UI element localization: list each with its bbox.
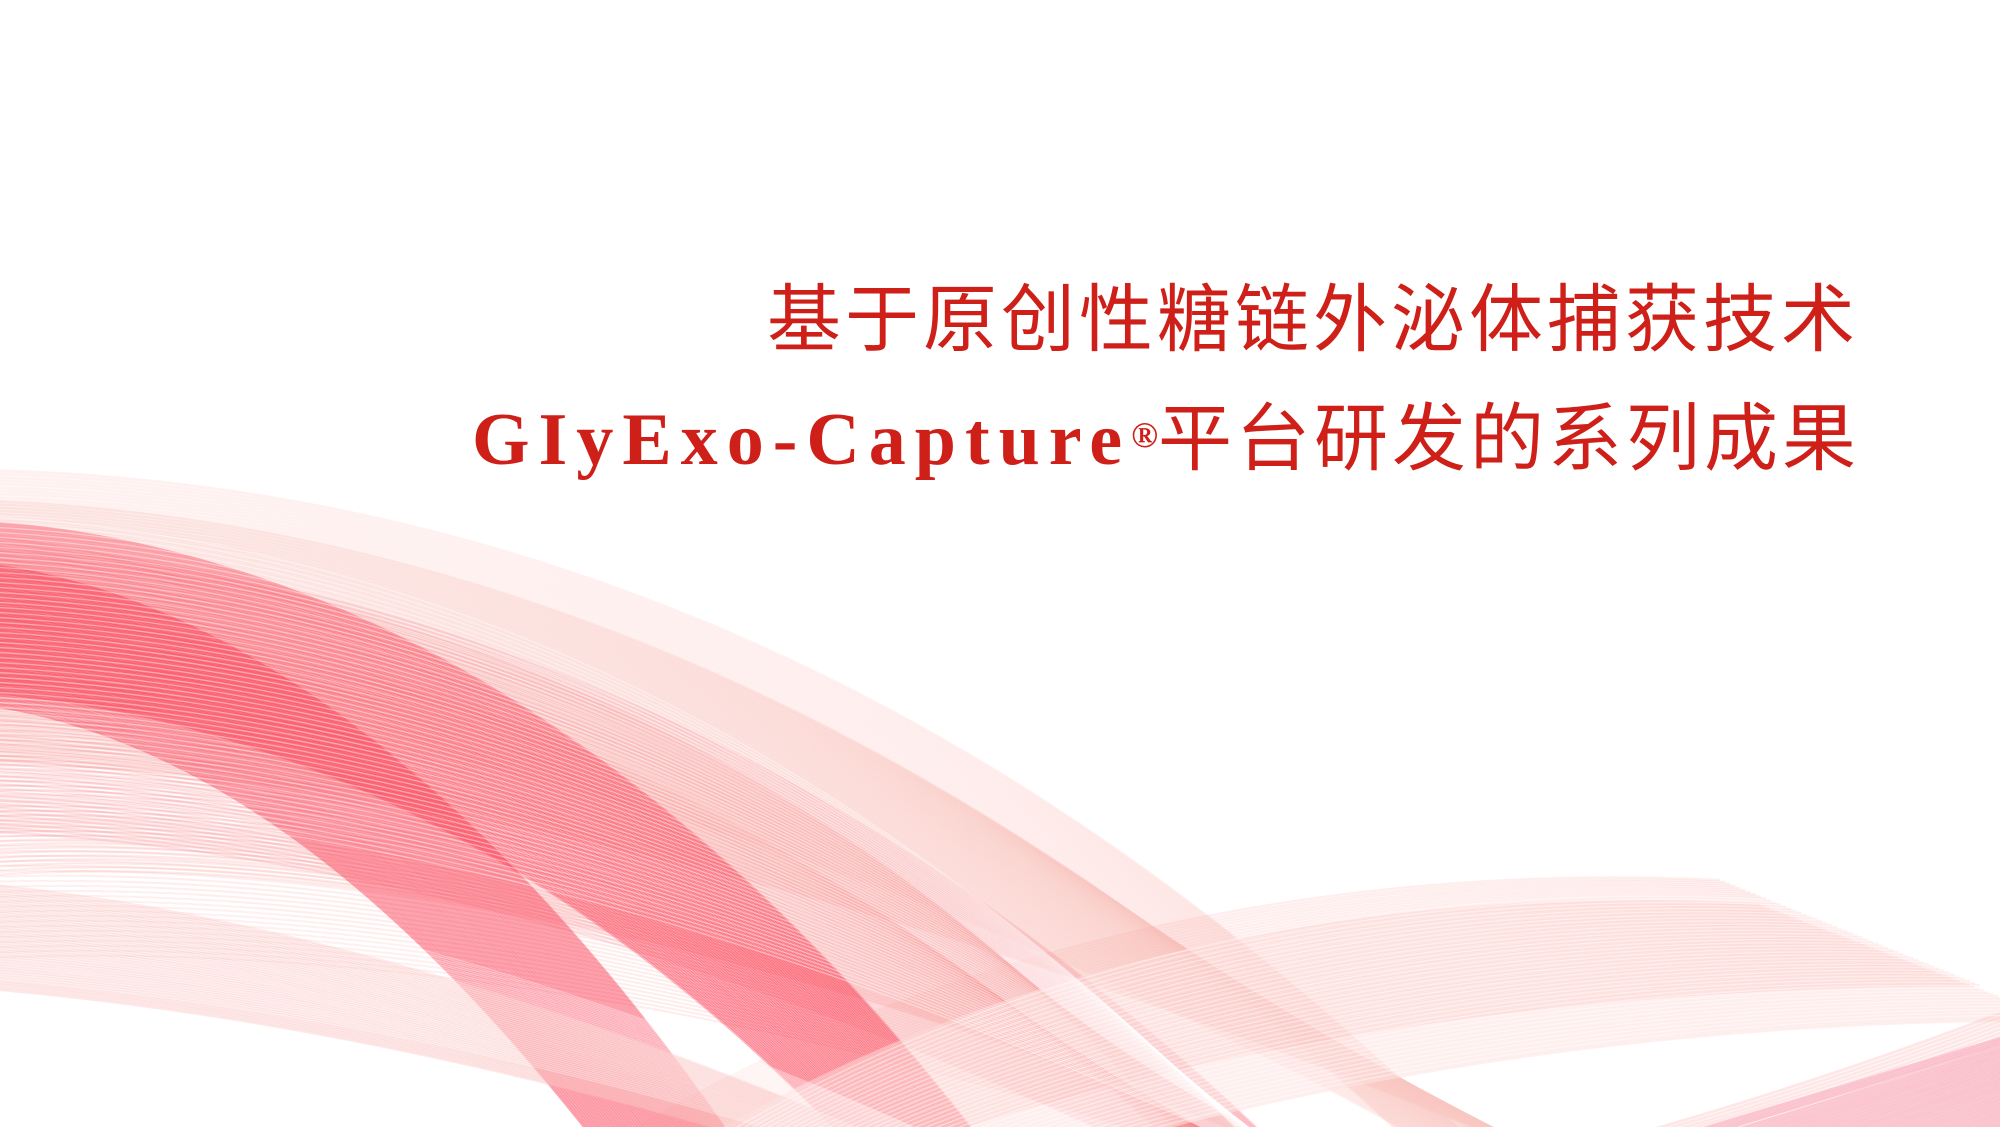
title-block: 基于原创性糖链外泌体捕获技术 GIyExo-Capture®平台研发的系列成果 (0, 0, 2000, 1127)
title-line-secondary: GIyExo-Capture®平台研发的系列成果 (472, 401, 1860, 478)
title-line-primary: 基于原创性糖链外泌体捕获技术 (767, 282, 1859, 357)
brand-name-latin: GIyExo-Capture (472, 399, 1131, 481)
registered-trademark-icon: ® (1131, 415, 1158, 455)
title-line-secondary-cjk: 平台研发的系列成果 (1158, 397, 1860, 480)
slide-canvas: 基于原创性糖链外泌体捕获技术 GIyExo-Capture®平台研发的系列成果 (0, 0, 2000, 1127)
